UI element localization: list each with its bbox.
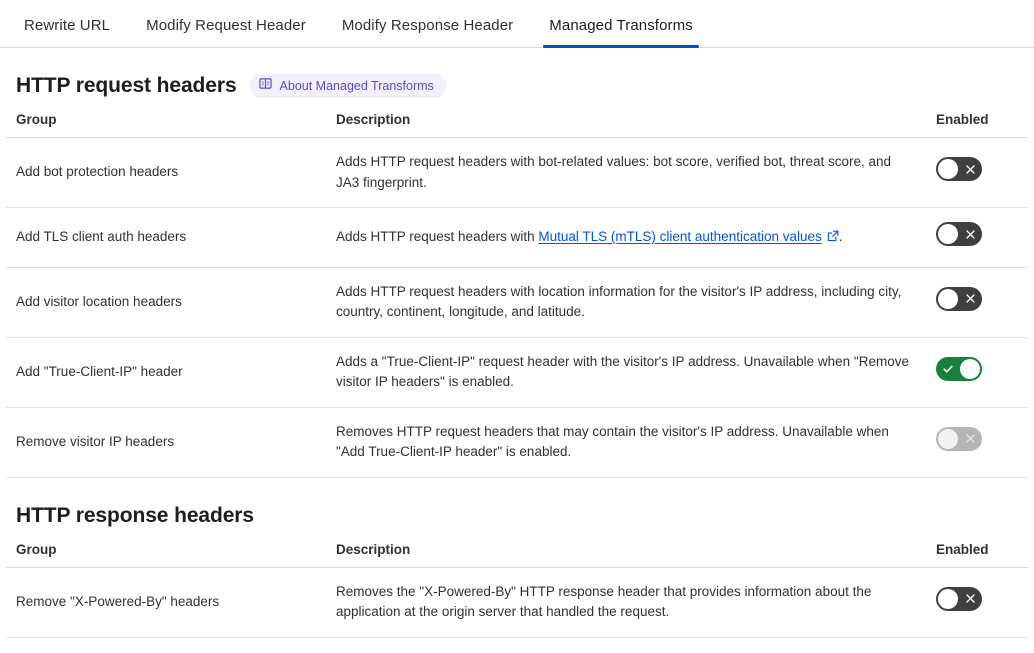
row-enabled-cell [926,208,1028,268]
column-header-enabled: Enabled [926,106,1028,138]
toggle-knob [938,429,958,449]
table-row: Add "True-Client-IP" header Adds a "True… [6,337,1028,407]
toggle-remove-x-powered-by-headers[interactable] [936,587,982,611]
row-description: Removes HTTP request headers that may co… [326,407,926,477]
row-enabled-cell [926,138,1028,208]
table-row: Add security headers Adds several securi… [6,637,1028,653]
column-header-description: Description [326,106,926,138]
close-icon [959,287,981,311]
row-description: Removes the "X-Powered-By" HTTP response… [326,567,926,637]
close-icon [959,427,981,451]
book-icon [259,77,272,95]
row-description: Adds a "True-Client-IP" request header w… [326,337,926,407]
toggle-remove-visitor-ip-headers [936,427,982,451]
close-icon [959,157,981,181]
column-header-group: Group [6,536,326,568]
row-description-prefix: Adds HTTP request headers with [336,229,538,244]
page-title-request: HTTP request headers [16,74,237,98]
about-managed-transforms-badge[interactable]: About Managed Transforms [250,74,446,98]
table-row: Remove visitor IP headers Removes HTTP r… [6,407,1028,477]
section-header-request: HTTP request headers About Managed Trans… [6,48,1028,106]
row-description-suffix: . [839,229,843,244]
toggle-add-visitor-location-headers[interactable] [936,287,982,311]
close-icon [959,587,981,611]
tab-rewrite-url[interactable]: Rewrite URL [6,18,128,47]
tab-modify-response-header[interactable]: Modify Response Header [324,18,531,47]
close-icon [959,222,981,246]
row-enabled-cell [926,407,1028,477]
column-header-description: Description [326,536,926,568]
table-header-row: Group Description Enabled [6,536,1028,568]
toggle-add-tls-client-auth-headers[interactable] [936,222,982,246]
toggle-knob [938,589,958,609]
toggle-add-true-client-ip-header[interactable] [936,357,982,381]
external-link-icon [827,228,839,249]
row-description: Adds HTTP request headers with location … [326,267,926,337]
toggle-add-bot-protection-headers[interactable] [936,157,982,181]
table-row: Add visitor location headers Adds HTTP r… [6,267,1028,337]
page-title-response: HTTP response headers [16,504,254,528]
check-icon [937,357,959,381]
row-description: Adds HTTP request headers with bot-relat… [326,138,926,208]
row-group-label: Add bot protection headers [6,138,326,208]
row-group-label: Add TLS client auth headers [6,208,326,268]
table-header-row: Group Description Enabled [6,106,1028,138]
row-enabled-cell [926,267,1028,337]
mtls-client-auth-link[interactable]: Mutual TLS (mTLS) client authentication … [538,229,821,244]
tab-managed-transforms[interactable]: Managed Transforms [531,18,711,47]
row-group-label: Add visitor location headers [6,267,326,337]
response-headers-table: Group Description Enabled Remove "X-Powe… [6,536,1028,653]
tab-modify-request-header[interactable]: Modify Request Header [128,18,324,47]
section-http-response-headers: HTTP response headers Group Description … [0,478,1034,653]
toggle-knob [960,359,980,379]
table-row: Add bot protection headers Adds HTTP req… [6,138,1028,208]
about-badge-label: About Managed Transforms [280,80,434,93]
row-description: Adds HTTP request headers with Mutual TL… [326,208,926,268]
section-http-request-headers: HTTP request headers About Managed Trans… [0,48,1034,478]
row-group-label: Remove "X-Powered-By" headers [6,567,326,637]
section-header-response: HTTP response headers [6,478,1028,536]
column-header-group: Group [6,106,326,138]
table-row: Remove "X-Powered-By" headers Removes th… [6,567,1028,637]
toggle-knob [938,289,958,309]
tab-bar: Rewrite URL Modify Request Header Modify… [0,0,1034,48]
row-enabled-cell [926,637,1028,653]
row-enabled-cell [926,567,1028,637]
toggle-knob [938,159,958,179]
row-group-label: Remove visitor IP headers [6,407,326,477]
row-group-label: Add "True-Client-IP" header [6,337,326,407]
column-header-enabled: Enabled [926,536,1028,568]
row-description: Adds several security-related HTTP respo… [326,637,926,653]
request-headers-table: Group Description Enabled Add bot protec… [6,106,1028,478]
row-enabled-cell [926,337,1028,407]
row-group-label: Add security headers [6,637,326,653]
table-row: Add TLS client auth headers Adds HTTP re… [6,208,1028,268]
toggle-knob [938,224,958,244]
